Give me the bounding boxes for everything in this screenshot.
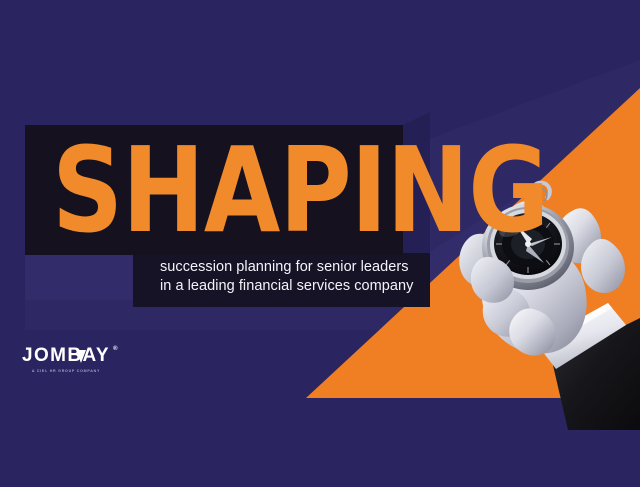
logo-tagline: A CIEL HR GROUP COMPANY bbox=[22, 368, 110, 374]
registered-trademark-icon: ® bbox=[113, 346, 119, 353]
logo-wordmark: JOMBAY ® bbox=[22, 346, 118, 366]
subtitle-line-2: in a leading financial services company bbox=[160, 277, 413, 296]
subtitle-line-1: succession planning for senior leaders bbox=[160, 258, 413, 277]
slide-subtitle: succession planning for senior leaders i… bbox=[160, 258, 413, 296]
logo-wordmark-text: JOMBAY bbox=[22, 345, 110, 366]
triangle-icon bbox=[76, 350, 86, 363]
jombay-logo: JOMBAY ® A CIEL HR GROUP COMPANY bbox=[22, 346, 118, 374]
presentation-slide: SHAPING succession planning for senior l… bbox=[0, 0, 640, 487]
slide-headline: SHAPING bbox=[52, 127, 378, 253]
